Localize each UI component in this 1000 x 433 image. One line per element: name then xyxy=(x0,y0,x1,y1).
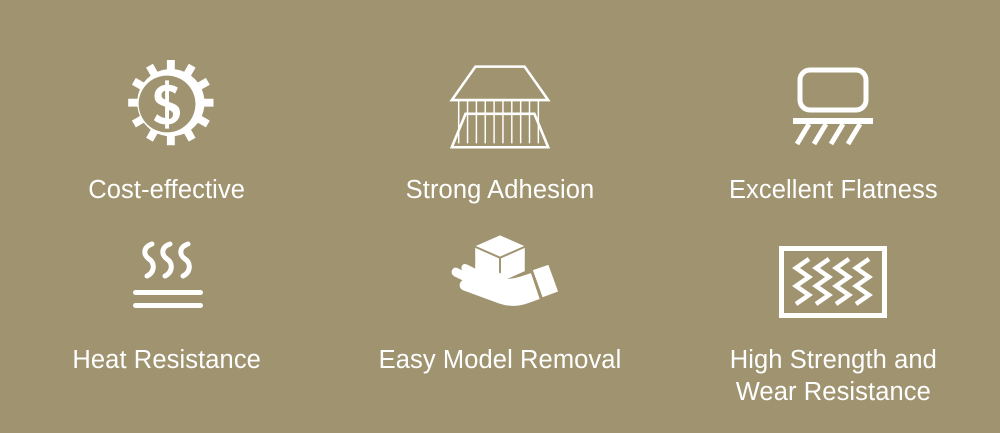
feature-cell-heat-resistance[interactable]: Heat Resistance xyxy=(0,210,333,433)
feature-label: High Strength and Wear Resistance xyxy=(730,344,937,408)
feature-cell-easy-model-removal[interactable]: Easy Model Removal xyxy=(333,210,666,433)
feature-label: Strong Adhesion xyxy=(406,174,595,206)
feature-label: Easy Model Removal xyxy=(379,344,622,376)
feature-grid: Cost-effective xyxy=(0,0,1000,433)
gear-dollar-icon xyxy=(107,42,227,152)
feature-label: Heat Resistance xyxy=(72,344,261,376)
feature-cell-strong-adhesion[interactable]: Strong Adhesion xyxy=(333,0,666,210)
feature-cell-high-strength-wear-resistance[interactable]: High Strength and Wear Resistance xyxy=(667,210,1000,433)
feature-label: Cost-effective xyxy=(88,174,245,206)
feature-highlights-board: Cost-effective xyxy=(0,0,1000,433)
layer-bond-hatch-icon xyxy=(440,42,560,152)
feature-cell-excellent-flatness[interactable]: Excellent Flatness xyxy=(667,0,1000,210)
feature-cell-cost-effective[interactable]: Cost-effective xyxy=(0,0,333,210)
feature-label: Excellent Flatness xyxy=(729,174,938,206)
heat-waves-over-plates-icon xyxy=(107,228,227,318)
hand-holding-cube-icon xyxy=(440,228,560,318)
flat-plate-on-hatched-surface-icon xyxy=(773,42,893,152)
zigzag-texture-panel-icon xyxy=(773,228,893,318)
